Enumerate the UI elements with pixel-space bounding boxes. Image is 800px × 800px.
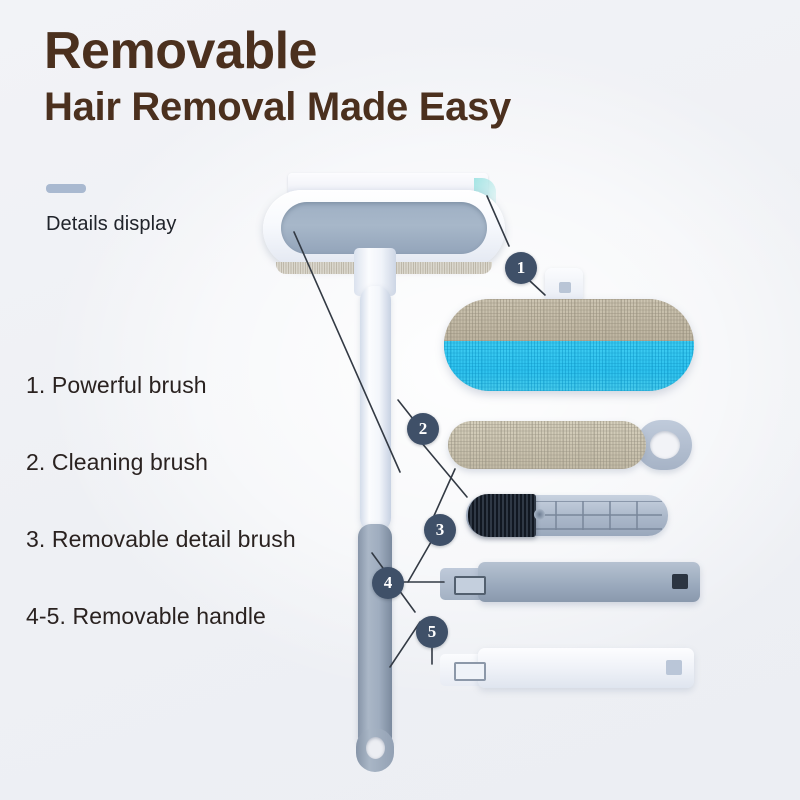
feature-list: 1. Powerful brush 2. Cleaning brush 3. R… — [26, 372, 376, 630]
pad-cyan-section-icon — [444, 341, 694, 391]
cleaning-brush-strip-icon — [448, 421, 646, 469]
handle-gray-port-icon — [672, 574, 688, 589]
feature-item-4: 4-5. Removable handle — [26, 603, 376, 630]
feature-item-1: 1. Powerful brush — [26, 372, 376, 399]
product-infographic: Removable Hair Removal Made Easy Details… — [0, 0, 800, 800]
handle-hang-hole-icon — [366, 737, 385, 759]
handle-white-shaft-icon — [478, 648, 694, 688]
feature-item-2: 2. Cleaning brush — [26, 449, 376, 476]
powerful-brush-pad-icon — [444, 299, 694, 391]
detail-brush-screw-icon — [534, 509, 545, 520]
detail-brush-bristles-icon — [468, 494, 536, 537]
handle-white-slot-icon — [454, 662, 486, 681]
callout-badge-5[interactable]: 5 — [416, 616, 448, 648]
callout-badge-2[interactable]: 2 — [407, 413, 439, 445]
heading-block: Removable Hair Removal Made Easy — [44, 24, 511, 130]
brush-head-panel-icon — [281, 202, 487, 254]
page-subtitle: Hair Removal Made Easy — [44, 85, 511, 130]
pad-beige-section-icon — [444, 299, 694, 341]
feature-item-3: 3. Removable detail brush — [26, 526, 376, 553]
page-title: Removable — [44, 24, 511, 79]
cleaning-brush-ring-hole-icon — [650, 431, 680, 459]
handle-white-port-icon — [666, 660, 682, 675]
pad-connector-slot-icon — [559, 282, 571, 293]
handle-gray-shaft-icon — [478, 562, 700, 602]
detail-brush-grid-icon — [528, 501, 662, 530]
section-accent-bar — [46, 184, 86, 193]
section-label: Details display — [46, 213, 176, 236]
callout-badge-1[interactable]: 1 — [505, 252, 537, 284]
handle-gray-slot-icon — [454, 576, 486, 595]
callout-badge-4[interactable]: 4 — [372, 567, 404, 599]
callout-badge-3[interactable]: 3 — [424, 514, 456, 546]
